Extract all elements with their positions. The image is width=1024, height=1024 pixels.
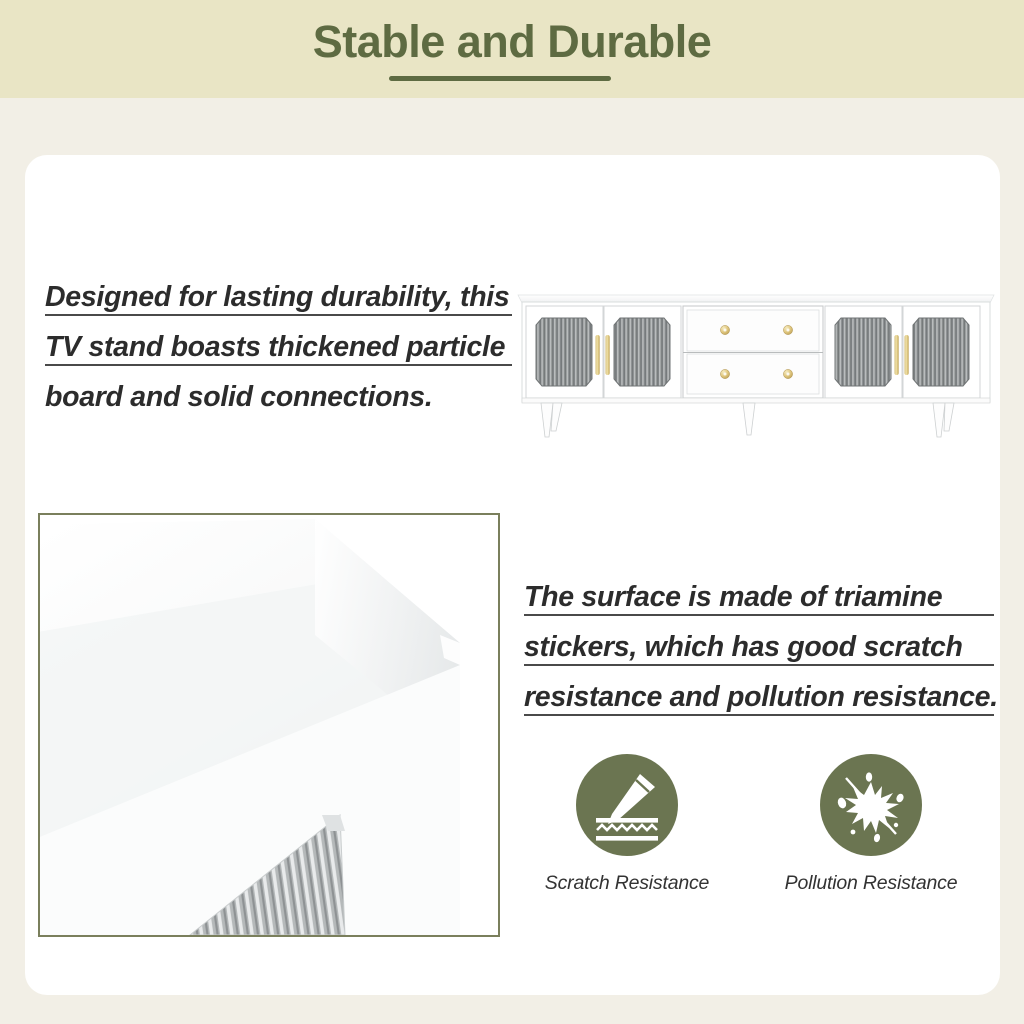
surface-line-3: resistance and pollution resistance. bbox=[524, 672, 994, 722]
surface-paragraph: The surface is made of triamine stickers… bbox=[524, 572, 994, 722]
durability-line-1: Designed for lasting durability, this bbox=[45, 272, 525, 322]
durability-line-3: board and solid connections. bbox=[45, 372, 525, 422]
title-underline-rule bbox=[389, 76, 611, 81]
tv-stand-illustration bbox=[512, 277, 1000, 455]
durability-paragraph: Designed for lasting durability, this TV… bbox=[45, 272, 525, 422]
cabinet-corner-detail-photo bbox=[38, 513, 500, 937]
cabinet-corner-illustration bbox=[40, 515, 498, 935]
scratch-badge-circle bbox=[576, 754, 678, 856]
pollution-resistance-label: Pollution Resistance bbox=[771, 872, 971, 895]
scratch-resistance-label: Scratch Resistance bbox=[527, 872, 727, 895]
durability-line-2: TV stand boasts thickened particle bbox=[45, 322, 525, 372]
pollution-badge-circle bbox=[820, 754, 922, 856]
tv-stand-product-photo bbox=[512, 277, 1000, 455]
scratch-blade-icon bbox=[576, 754, 678, 856]
page-title: Stable and Durable bbox=[0, 16, 1024, 68]
surface-line-1: The surface is made of triamine bbox=[524, 572, 994, 622]
splatter-icon bbox=[820, 754, 922, 856]
infographic-page: Stable and Durable Designed for lasting … bbox=[0, 0, 1024, 1024]
feature-scratch-resistance: Scratch Resistance bbox=[527, 754, 727, 895]
feature-badges-row: Scratch Resistance Pollution R bbox=[524, 754, 994, 914]
surface-line-2: stickers, which has good scratch bbox=[524, 622, 994, 672]
feature-pollution-resistance: Pollution Resistance bbox=[771, 754, 971, 895]
